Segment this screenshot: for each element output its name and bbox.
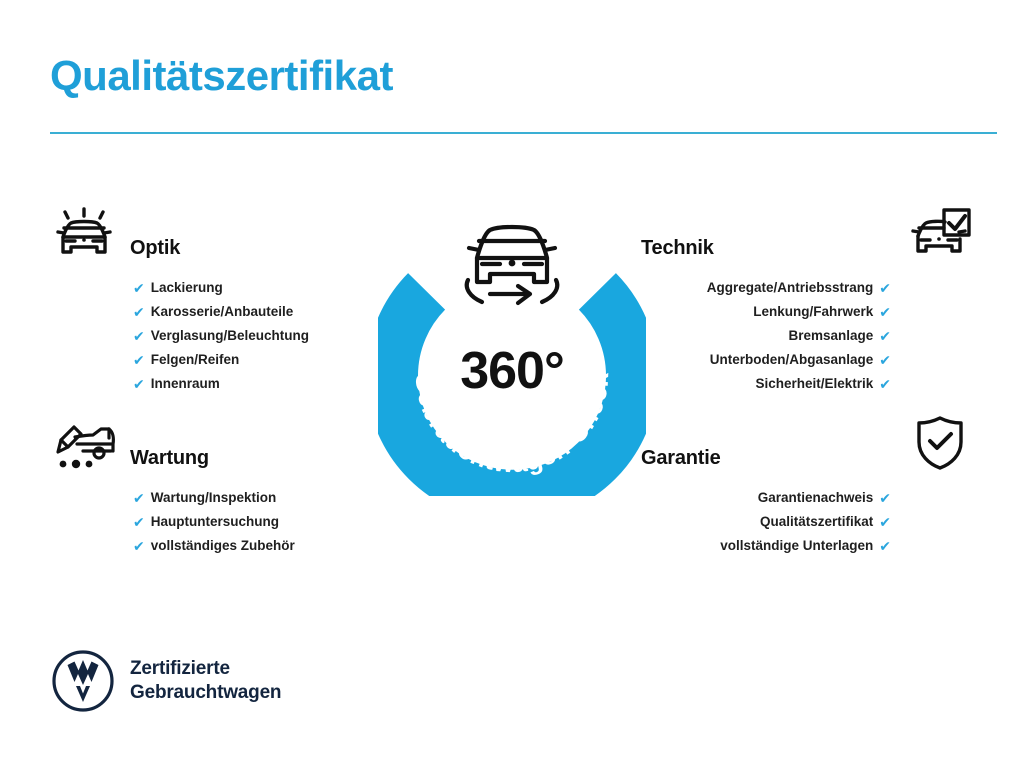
check-icon: ✔	[879, 377, 891, 391]
car-checkbox-icon	[904, 200, 976, 262]
section-title: Technik	[641, 237, 714, 259]
badge-number: 360°	[378, 345, 646, 397]
section-header: Garantie	[641, 410, 976, 472]
list-item: Sicherheit/Elektrik✔	[641, 372, 976, 396]
list-item: ✔Wartung/Inspektion	[48, 486, 383, 510]
section-title: Garantie	[641, 447, 721, 469]
section-header: Wartung	[48, 410, 383, 472]
list-item: Garantienachweis✔	[641, 486, 976, 510]
section-title: Optik	[130, 237, 180, 259]
list-item: ✔vollständiges Zubehör	[48, 534, 383, 558]
section-header: Optik	[48, 200, 383, 262]
check-icon: ✔	[133, 515, 145, 529]
check-icon: ✔	[879, 539, 891, 553]
check-icon: ✔	[879, 353, 891, 367]
section-technik: Technik Aggregate/Antriebsstrang✔ Lenkun…	[641, 200, 976, 412]
list-item-label: Lackierung	[151, 281, 223, 295]
list-item: Unterboden/Abgasanlage✔	[641, 348, 976, 372]
footer-text: Zertifizierte Gebrauchtwagen	[130, 657, 281, 706]
list-item-label: Sicherheit/Elektrik	[755, 377, 873, 391]
check-icon: ✔	[133, 353, 145, 367]
list-item-label: vollständiges Zubehör	[151, 539, 295, 553]
section-wartung: Wartung ✔Wartung/Inspektion ✔Hauptunters…	[48, 410, 383, 574]
check-icon: ✔	[133, 539, 145, 553]
car-service-pen-icon	[48, 410, 120, 472]
list-item-label: Felgen/Reifen	[151, 353, 240, 367]
list-item-label: Wartung/Inspektion	[151, 491, 277, 505]
check-icon: ✔	[879, 491, 891, 505]
check-icon: ✔	[133, 305, 145, 319]
list-item-label: Verglasung/Beleuchtung	[151, 329, 309, 343]
list-item-label: Innenraum	[151, 377, 220, 391]
checklist-technik: Aggregate/Antriebsstrang✔ Lenkung/Fahrwe…	[641, 276, 976, 396]
checklist-garantie: Garantienachweis✔ Qualitätszertifikat✔ v…	[641, 486, 976, 558]
footer-line-1: Zertifizierte	[130, 657, 281, 681]
check-icon: ✔	[133, 377, 145, 391]
list-item-label: Unterboden/Abgasanlage	[710, 353, 874, 367]
title-divider	[50, 132, 997, 134]
list-item: vollständige Unterlagen✔	[641, 534, 976, 558]
list-item: ✔Innenraum	[48, 372, 383, 396]
checklist-optik: ✔Lackierung ✔Karosserie/Anbauteile ✔Verg…	[48, 276, 383, 396]
list-item-label: Lenkung/Fahrwerk	[753, 305, 873, 319]
section-title-wrap: Technik	[641, 237, 894, 262]
section-optik: Optik ✔Lackierung ✔Karosserie/Anbauteile…	[48, 200, 383, 412]
footer-line-2: Gebrauchtwagen	[130, 681, 281, 705]
list-item-label: Hauptuntersuchung	[151, 515, 279, 529]
section-title: Wartung	[130, 447, 209, 469]
list-item: ✔Verglasung/Beleuchtung	[48, 324, 383, 348]
check-icon: ✔	[133, 329, 145, 343]
car-shine-icon	[48, 200, 120, 262]
list-item: Bremsanlage✔	[641, 324, 976, 348]
list-item: Qualitätszertifikat✔	[641, 510, 976, 534]
list-item: ✔Lackierung	[48, 276, 383, 300]
check-icon: ✔	[879, 329, 891, 343]
list-item: Lenkung/Fahrwerk✔	[641, 300, 976, 324]
check-icon: ✔	[133, 491, 145, 505]
list-item-label: Garantienachweis	[758, 491, 874, 505]
page-title: Qualitätszertifikat	[50, 53, 393, 99]
list-item: ✔Felgen/Reifen	[48, 348, 383, 372]
list-item-label: Qualitätszertifikat	[760, 515, 873, 529]
shield-check-icon	[904, 410, 976, 472]
list-item: Aggregate/Antriebsstrang✔	[641, 276, 976, 300]
section-title-wrap: Garantie	[641, 447, 894, 472]
section-title-wrap: Wartung	[130, 447, 383, 472]
vw-logo-icon	[52, 650, 114, 712]
check-icon: ✔	[879, 515, 891, 529]
list-item-label: Bremsanlage	[788, 329, 873, 343]
list-item: ✔Karosserie/Anbauteile	[48, 300, 383, 324]
list-item: ✔Hauptuntersuchung	[48, 510, 383, 534]
badge-360-check: Gebrauchtwagen-Check 360°	[378, 196, 646, 496]
section-title-wrap: Optik	[130, 237, 383, 262]
list-item-label: Aggregate/Antriebsstrang	[707, 281, 874, 295]
list-item-label: Karosserie/Anbauteile	[151, 305, 294, 319]
section-garantie: Garantie Garantienachweis✔ Qualitätszert…	[641, 410, 976, 574]
check-icon: ✔	[879, 305, 891, 319]
section-header: Technik	[641, 200, 976, 262]
check-icon: ✔	[879, 281, 891, 295]
checklist-wartung: ✔Wartung/Inspektion ✔Hauptuntersuchung ✔…	[48, 486, 383, 558]
footer-logo: Zertifizierte Gebrauchtwagen	[52, 650, 281, 712]
list-item-label: vollständige Unterlagen	[720, 539, 873, 553]
check-icon: ✔	[133, 281, 145, 295]
